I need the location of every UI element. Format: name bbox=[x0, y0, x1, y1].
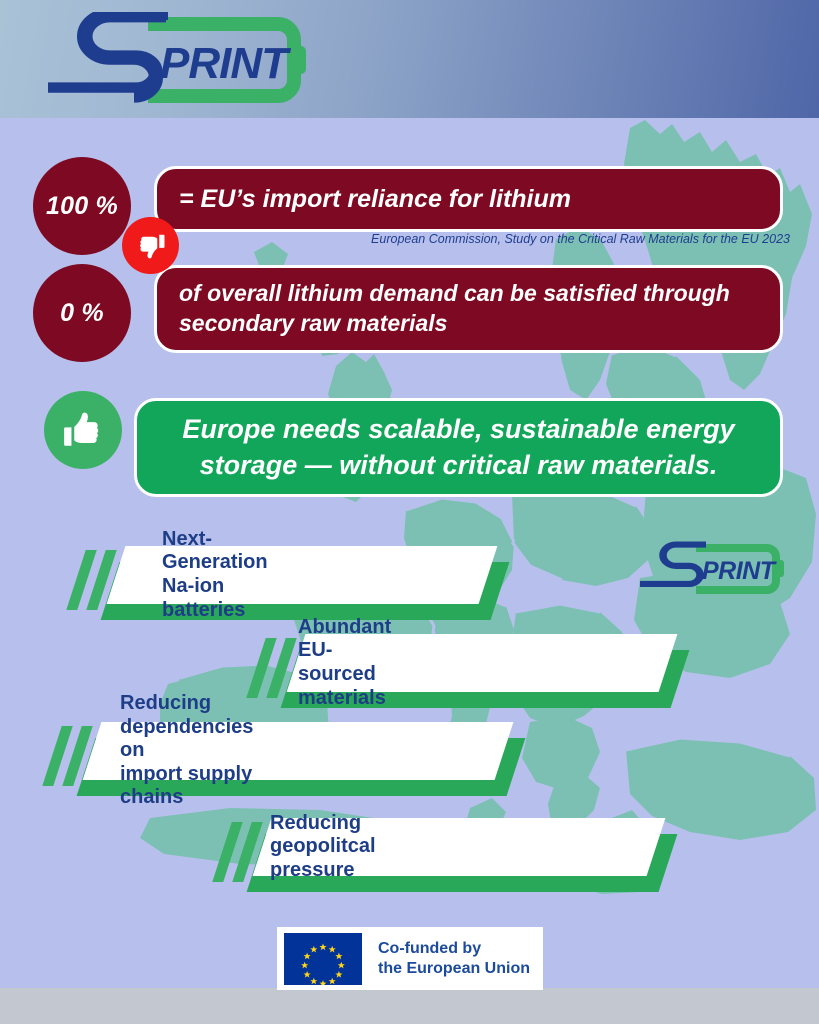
stat-value-text: 100 % bbox=[46, 192, 118, 221]
eu-flag-icon bbox=[284, 933, 362, 985]
stat-value-secondary-raw-materials: 0 % bbox=[33, 264, 131, 362]
thumbs-up-icon bbox=[44, 391, 122, 469]
eu-funding-label: Co-funded by the European Union bbox=[378, 939, 530, 978]
statement-text: of overall lithium demand can be satisfi… bbox=[179, 279, 758, 339]
statement-secondary-raw-materials: of overall lithium demand can be satisfi… bbox=[154, 265, 783, 353]
stat-value-text: 0 % bbox=[60, 299, 104, 328]
statement-europe-needs: Europe needs scalable, sustainable energ… bbox=[134, 398, 783, 497]
infographic-poster: .land { fill:#7cc0b4; } .land2 { fill:#8… bbox=[0, 0, 819, 1024]
header-band: PRINT bbox=[0, 0, 819, 118]
eu-funding-badge: Co-funded by the European Union bbox=[277, 927, 543, 990]
feature-label: Reducing geopolitcal pressure bbox=[270, 818, 376, 876]
svg-text:PRINT: PRINT bbox=[160, 39, 291, 88]
feature-label: Abundant EU-sourced materials bbox=[298, 634, 391, 692]
sprint-logo: PRINT bbox=[40, 12, 310, 108]
statement-text: = EU’s import reliance for lithium bbox=[179, 183, 571, 216]
stat-value-import-reliance: 100 % bbox=[33, 157, 131, 255]
svg-text:PRINT: PRINT bbox=[702, 557, 778, 585]
feature-label: Reducing dependencies on import supply c… bbox=[120, 722, 253, 780]
statement-import-reliance: = EU’s import reliance for lithium bbox=[154, 166, 783, 232]
feature-label: Next-Generation Na-ion batteries bbox=[162, 546, 268, 604]
thumbs-down-icon bbox=[122, 217, 179, 274]
bottom-bar bbox=[0, 988, 819, 1024]
statement-text: Europe needs scalable, sustainable energ… bbox=[159, 412, 758, 482]
sprint-logo-corner: PRINT bbox=[636, 541, 786, 597]
